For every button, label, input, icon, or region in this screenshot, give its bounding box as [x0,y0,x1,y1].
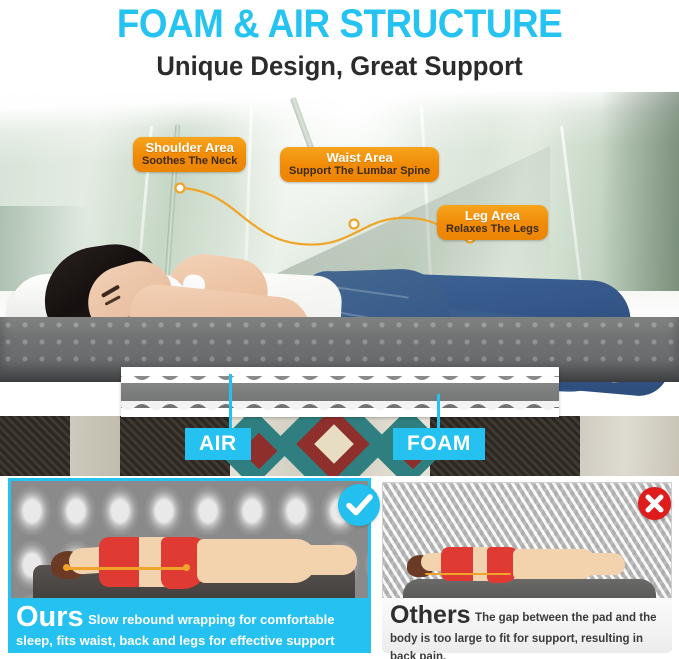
cross-section-bottom-wave [121,401,559,413]
others-heading: Others [390,601,471,629]
caption-ours: Ours Slow rebound wrapping for comfortab… [8,598,371,653]
callout-title: Waist Area [289,150,430,165]
check-icon [338,484,380,526]
others-person-feet [581,553,625,575]
person-eye [104,295,120,306]
caption-ours-inner: Ours Slow rebound wrapping for comfortab… [16,602,363,650]
callout-caption: Relaxes The Legs [446,223,539,236]
ours-alignment-dot [183,564,190,571]
page-title: FOAM & AIR STRUCTURE [27,2,652,46]
callout-shoulder-area[interactable]: Shoulder Area Soothes The Neck [133,137,246,172]
callout-caption: Support The Lumbar Spine [289,165,430,178]
others-alignment-line [425,573,511,575]
rug-dark-band [0,416,70,476]
ours-heading: Ours [16,601,84,633]
caption-others-inner: Others The gap between the pad and the b… [390,602,664,659]
callout-caption: Soothes The Neck [142,155,237,168]
callout-leg-area[interactable]: Leg Area Relaxes The Legs [437,205,548,240]
foam-pointer-line [437,394,440,430]
callout-title: Shoulder Area [142,140,237,155]
ours-alignment-line [67,567,187,570]
page-subtitle: Unique Design, Great Support [17,51,662,81]
air-pointer-line [229,374,232,430]
header: FOAM & AIR STRUCTURE Unique Design, Grea… [0,0,679,92]
product-infographic: FOAM & AIR STRUCTURE Unique Design, Grea… [0,0,679,659]
caption-others: Others The gap between the pad and the b… [382,598,672,653]
callout-waist-area[interactable]: Waist Area Support The Lumbar Spine [280,147,439,182]
layer-tag-foam[interactable]: FOAM [393,428,485,460]
x-glyph [638,487,671,520]
x-icon [638,487,671,520]
ours-person-feet [297,545,357,575]
cross-section-top-wave [121,371,559,383]
layer-tag-air[interactable]: AIR [185,428,251,460]
ours-alignment-dot [63,564,70,571]
mattress-cross-section [121,367,559,417]
callout-title: Leg Area [446,208,539,223]
check-glyph [338,484,380,526]
rug-background [0,416,679,476]
